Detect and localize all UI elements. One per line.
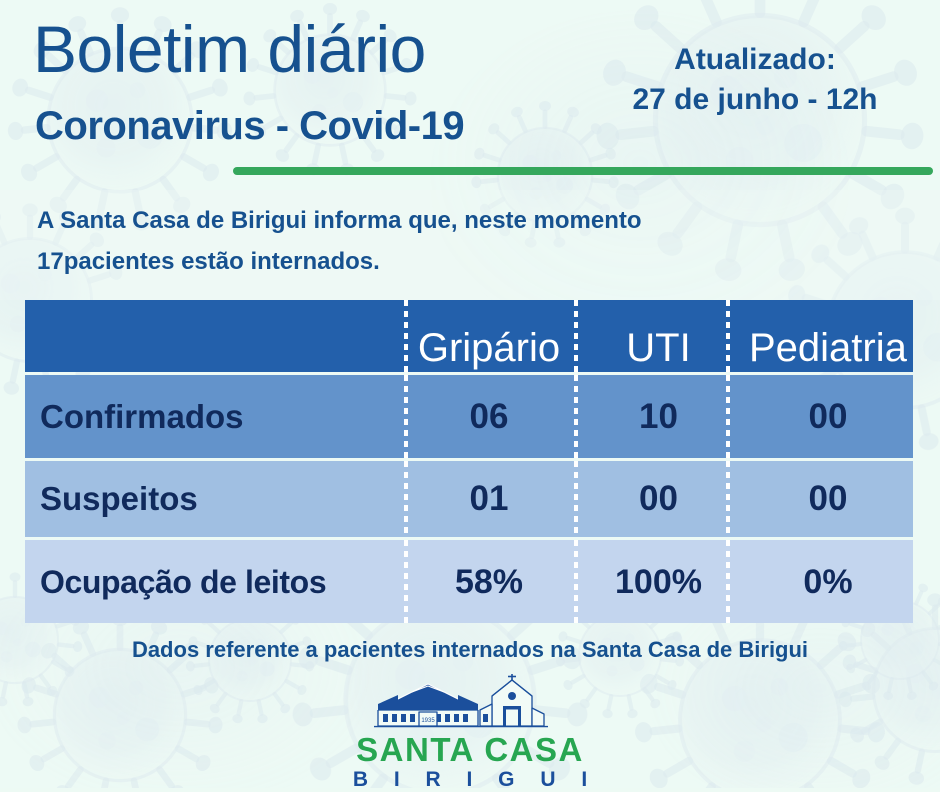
hospital-building-icon: 1935 [372, 672, 568, 734]
cell-value: 00 [809, 398, 848, 436]
cell-value: 00 [639, 480, 678, 518]
cell-confirmados-uti: 10 [574, 375, 743, 458]
cell-confirmados-gripario: 06 [404, 375, 574, 458]
column-header-pediatria: Pediatria [743, 300, 913, 372]
intro-line-2: 17pacientes estão internados. [37, 241, 837, 282]
cell-ocupacao-uti: 100% [574, 540, 743, 623]
cell-confirmados-pediatria: 00 [743, 375, 913, 458]
cell-value: 10 [639, 398, 678, 436]
table-row: Ocupação de leitos 58% 100% 0% [25, 540, 913, 623]
logo-city: B I R I G U I [0, 768, 940, 792]
column-header-gripario: Gripário [404, 300, 574, 372]
cell-suspeitos-gripario: 01 [404, 461, 574, 537]
cell-ocupacao-pediatria: 0% [743, 540, 913, 623]
updated-label: Atualizado: [575, 40, 935, 80]
footer-note: Dados referente a pacientes internados n… [0, 637, 940, 663]
page-subtitle: Coronavirus - Covid-19 [35, 104, 464, 148]
page-title: Boletim diário [33, 14, 426, 84]
column-separator-1 [404, 375, 408, 458]
cell-value: 100% [615, 563, 702, 601]
column-separator-3 [726, 375, 730, 458]
column-separator-3 [726, 461, 730, 537]
cell-value: 00 [809, 480, 848, 518]
updated-value: 27 de junho - 12h [575, 80, 935, 120]
column-header-uti: UTI [574, 300, 743, 372]
row-label-text: Ocupação de leitos [40, 564, 326, 600]
row-label-text: Confirmados [40, 399, 244, 435]
logo-year-text: 1935 [421, 718, 435, 724]
occupancy-table: Gripário UTI Pediatria Confirmados 06 10… [25, 300, 913, 623]
column-separator-1 [404, 300, 408, 372]
cell-value: 58% [455, 563, 523, 601]
column-separator-1 [404, 461, 408, 537]
santa-casa-logo: 1935 SANTA CASA B I R I G U I [0, 672, 940, 792]
column-separator-3 [726, 300, 730, 372]
green-divider [233, 167, 933, 175]
table-header-row: Gripário UTI Pediatria [25, 300, 913, 372]
row-label-ocupacao: Ocupação de leitos [25, 540, 404, 623]
table-row: Suspeitos 01 00 00 [25, 461, 913, 537]
cell-value: 01 [470, 480, 509, 518]
column-separator-1 [404, 540, 408, 623]
cell-suspeitos-pediatria: 00 [743, 461, 913, 537]
intro-line-1: A Santa Casa de Birigui informa que, nes… [37, 200, 837, 241]
column-separator-2 [574, 540, 578, 623]
row-label-confirmados: Confirmados [25, 375, 404, 458]
intro-text: A Santa Casa de Birigui informa que, nes… [37, 200, 837, 282]
updated-block: Atualizado: 27 de junho - 12h [575, 40, 935, 120]
column-separator-2 [574, 461, 578, 537]
cell-suspeitos-uti: 00 [574, 461, 743, 537]
column-separator-2 [574, 375, 578, 458]
row-label-suspeitos: Suspeitos [25, 461, 404, 537]
table-header-corner [25, 300, 404, 372]
column-separator-3 [726, 540, 730, 623]
cell-value: 06 [470, 398, 509, 436]
cell-value: 0% [803, 563, 852, 601]
column-separator-2 [574, 300, 578, 372]
table-row: Confirmados 06 10 00 [25, 375, 913, 458]
cell-ocupacao-gripario: 58% [404, 540, 574, 623]
logo-name: SANTA CASA [0, 732, 940, 768]
row-label-text: Suspeitos [40, 481, 198, 517]
